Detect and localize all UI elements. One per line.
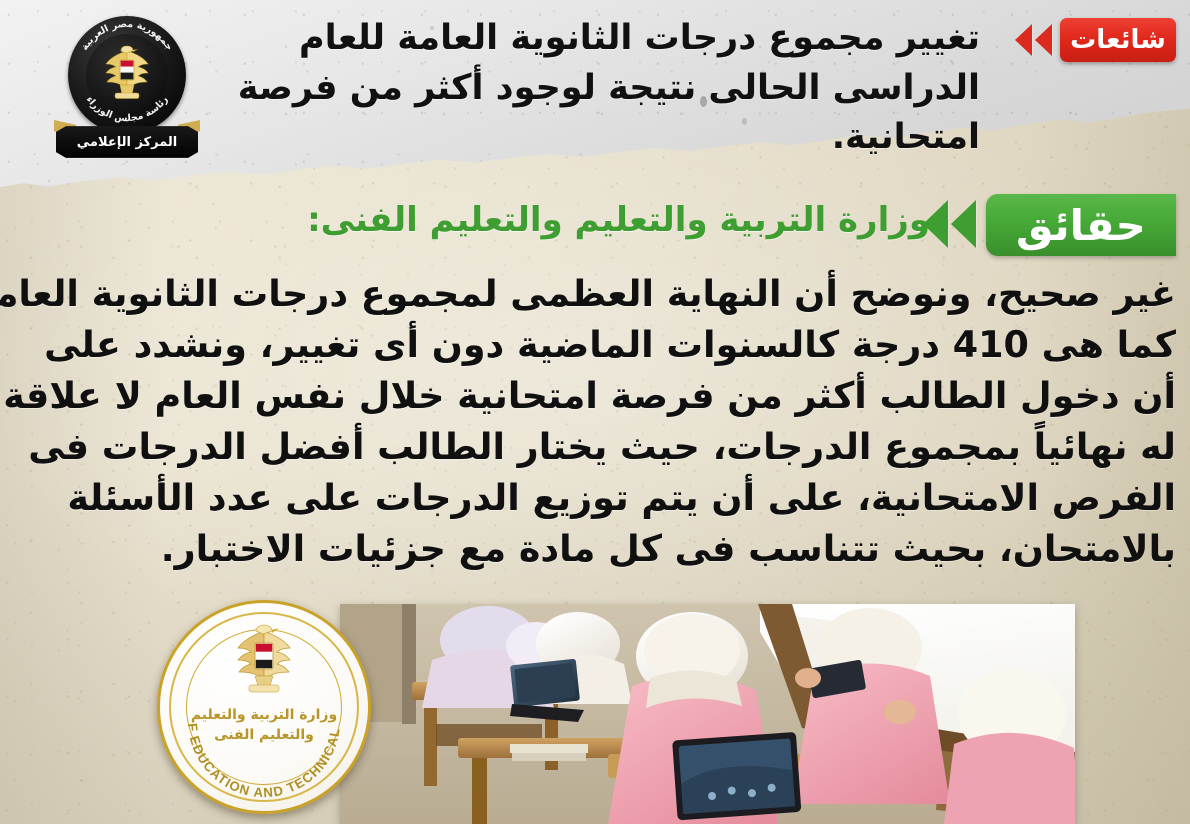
ministry-of-education-seal: وزارة التربية والتعليم والتعليم الفنى MI… xyxy=(157,600,371,814)
status-badge-rumor-label: شائعات xyxy=(1070,25,1166,55)
fact-body-text: غير صحيح، ونوضح أن النهاية العظمى لمجموع… xyxy=(14,268,1176,575)
logo-ribbon-label: المركز الإعلامي xyxy=(77,135,177,150)
status-badge-rumor: شائعات xyxy=(1060,18,1176,62)
cabinet-media-center-logo: جمهورية مصر العربية رئاسة مجلس الوزراء xyxy=(52,12,202,172)
chevron-double-left-icon-rumor xyxy=(1015,24,1052,56)
fact-body-line: بالامتحان، بحيث تتناسب فى كل مادة مع جزئ… xyxy=(14,523,1176,574)
infographic-card: جمهورية مصر العربية رئاسة مجلس الوزراء xyxy=(0,0,1190,824)
logo-ribbon: المركز الإعلامي xyxy=(56,124,198,160)
fact-source-ministry: وزارة التربية والتعليم والتعليم الفنى: xyxy=(230,198,930,242)
status-badge-fact-label: حقائق xyxy=(1016,201,1146,250)
chevron-double-left-icon-fact xyxy=(923,200,976,248)
classroom-photo xyxy=(340,604,1075,824)
seal-english-text: MINISTRY OF EDUCATION AND TECHNICAL EDUC… xyxy=(160,603,368,811)
fact-body-line: كما هى 410 درجة كالسنوات الماضية دون أى … xyxy=(14,319,1176,370)
fact-body-line: الفرص الامتحانية، على أن يتم توزيع الدرج… xyxy=(14,472,1176,523)
svg-text:رئاسة مجلس الوزراء: رئاسة مجلس الوزراء xyxy=(84,94,171,124)
fact-body-line: غير صحيح، ونوضح أن النهاية العظمى لمجموع… xyxy=(14,268,1176,319)
classroom-photo-illustration xyxy=(340,604,1075,824)
logo-arc-bottom-text: رئاسة مجلس الوزراء xyxy=(68,12,186,130)
rumor-headline: تغيير مجموع درجات الثانوية العامة للعام … xyxy=(190,14,980,163)
fact-body-line: أن دخول الطالب أكثر من فرصة امتحانية خلا… xyxy=(14,370,1176,421)
fact-body-line: له نهائياً بمجموع الدرجات، حيث يختار الط… xyxy=(14,421,1176,472)
svg-text:MINISTRY OF EDUCATION AND TECH: MINISTRY OF EDUCATION AND TECHNICAL EDUC… xyxy=(160,603,343,800)
status-badge-fact: حقائق xyxy=(986,194,1176,256)
